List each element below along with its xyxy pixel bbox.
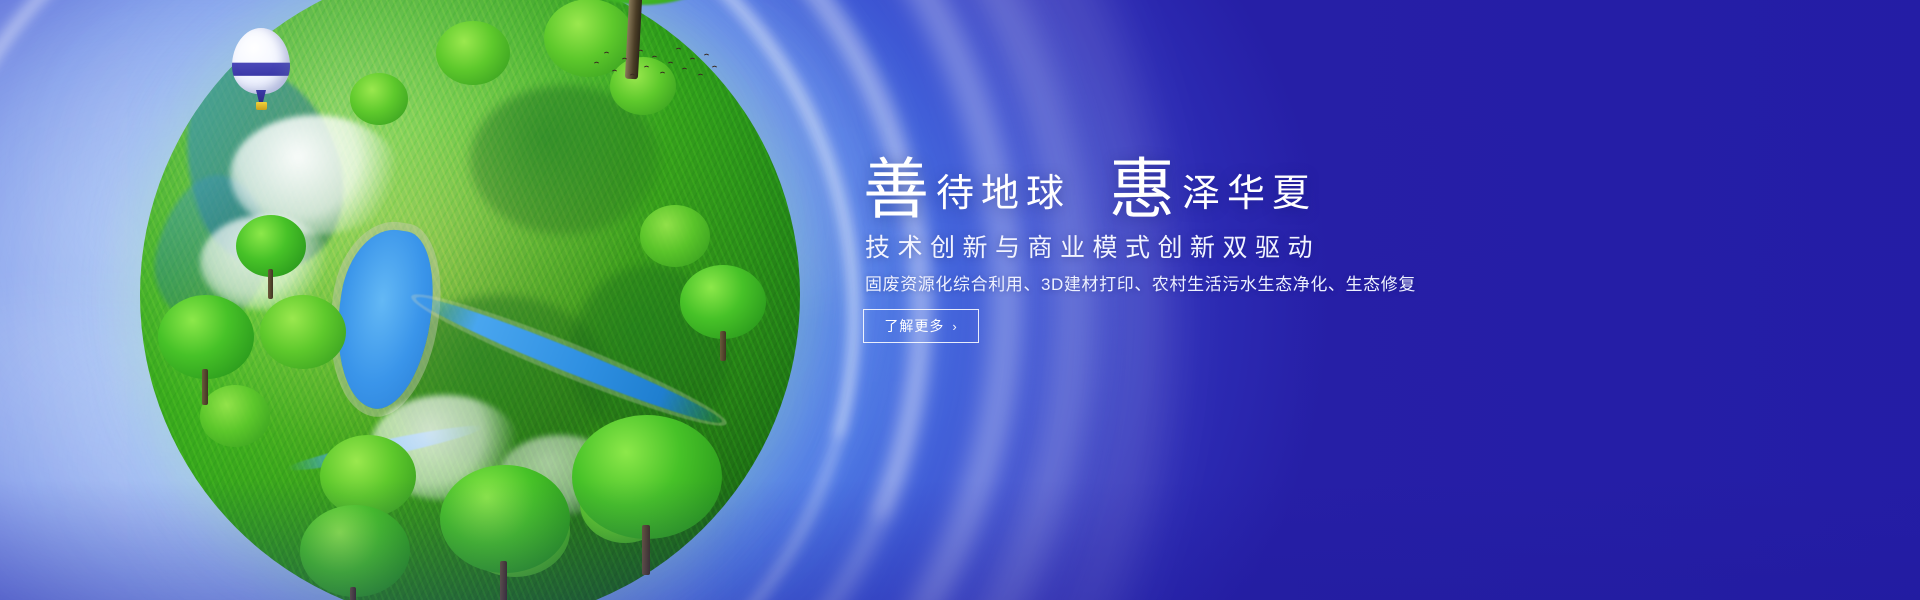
tree-cluster-4 [350,73,408,125]
hero-banner: 善待地球惠泽华夏 技术创新与商业模式创新双驱动 固废资源化综合利用、3D建材打印… [0,0,1920,600]
tree-cluster-6 [260,295,346,369]
balloon-basket [256,102,267,110]
learn-more-button[interactable]: 了解更多 › [863,309,979,343]
banner-description: 固废资源化综合利用、3D建材打印、农村生活污水生态净化、生态修复 [865,270,1416,295]
rim-tree-bottom-3 [300,505,410,600]
learn-more-label: 了解更多 [884,316,944,336]
tree-cluster-5 [640,205,710,267]
balloon-envelope [232,28,290,94]
rim-tree-right [680,265,766,361]
tree-cluster-1 [436,21,510,85]
headline-text-2: 泽华夏 [1182,173,1317,215]
rim-tree-far-left [158,295,254,405]
banner-subtitle: 技术创新与商业模式创新双驱动 [865,228,1320,264]
rim-tree-bottom-1 [440,465,570,600]
hot-air-balloon-icon [232,28,290,116]
bird-flock-icon [592,44,722,90]
rim-tree-left [236,215,306,299]
chevron-right-icon: › [952,320,957,333]
page-title: 善待地球惠泽华夏 [863,136,1317,232]
headline-text-1: 待地球 [936,173,1071,215]
headline-char-2: 惠 [1109,154,1176,227]
balloon-neck [256,90,266,102]
banner-content: 善待地球惠泽华夏 技术创新与商业模式创新双驱动 固废资源化综合利用、3D建材打印… [863,0,1423,600]
rim-tree-bottom-2 [572,415,722,575]
headline-char-1: 善 [863,154,930,227]
